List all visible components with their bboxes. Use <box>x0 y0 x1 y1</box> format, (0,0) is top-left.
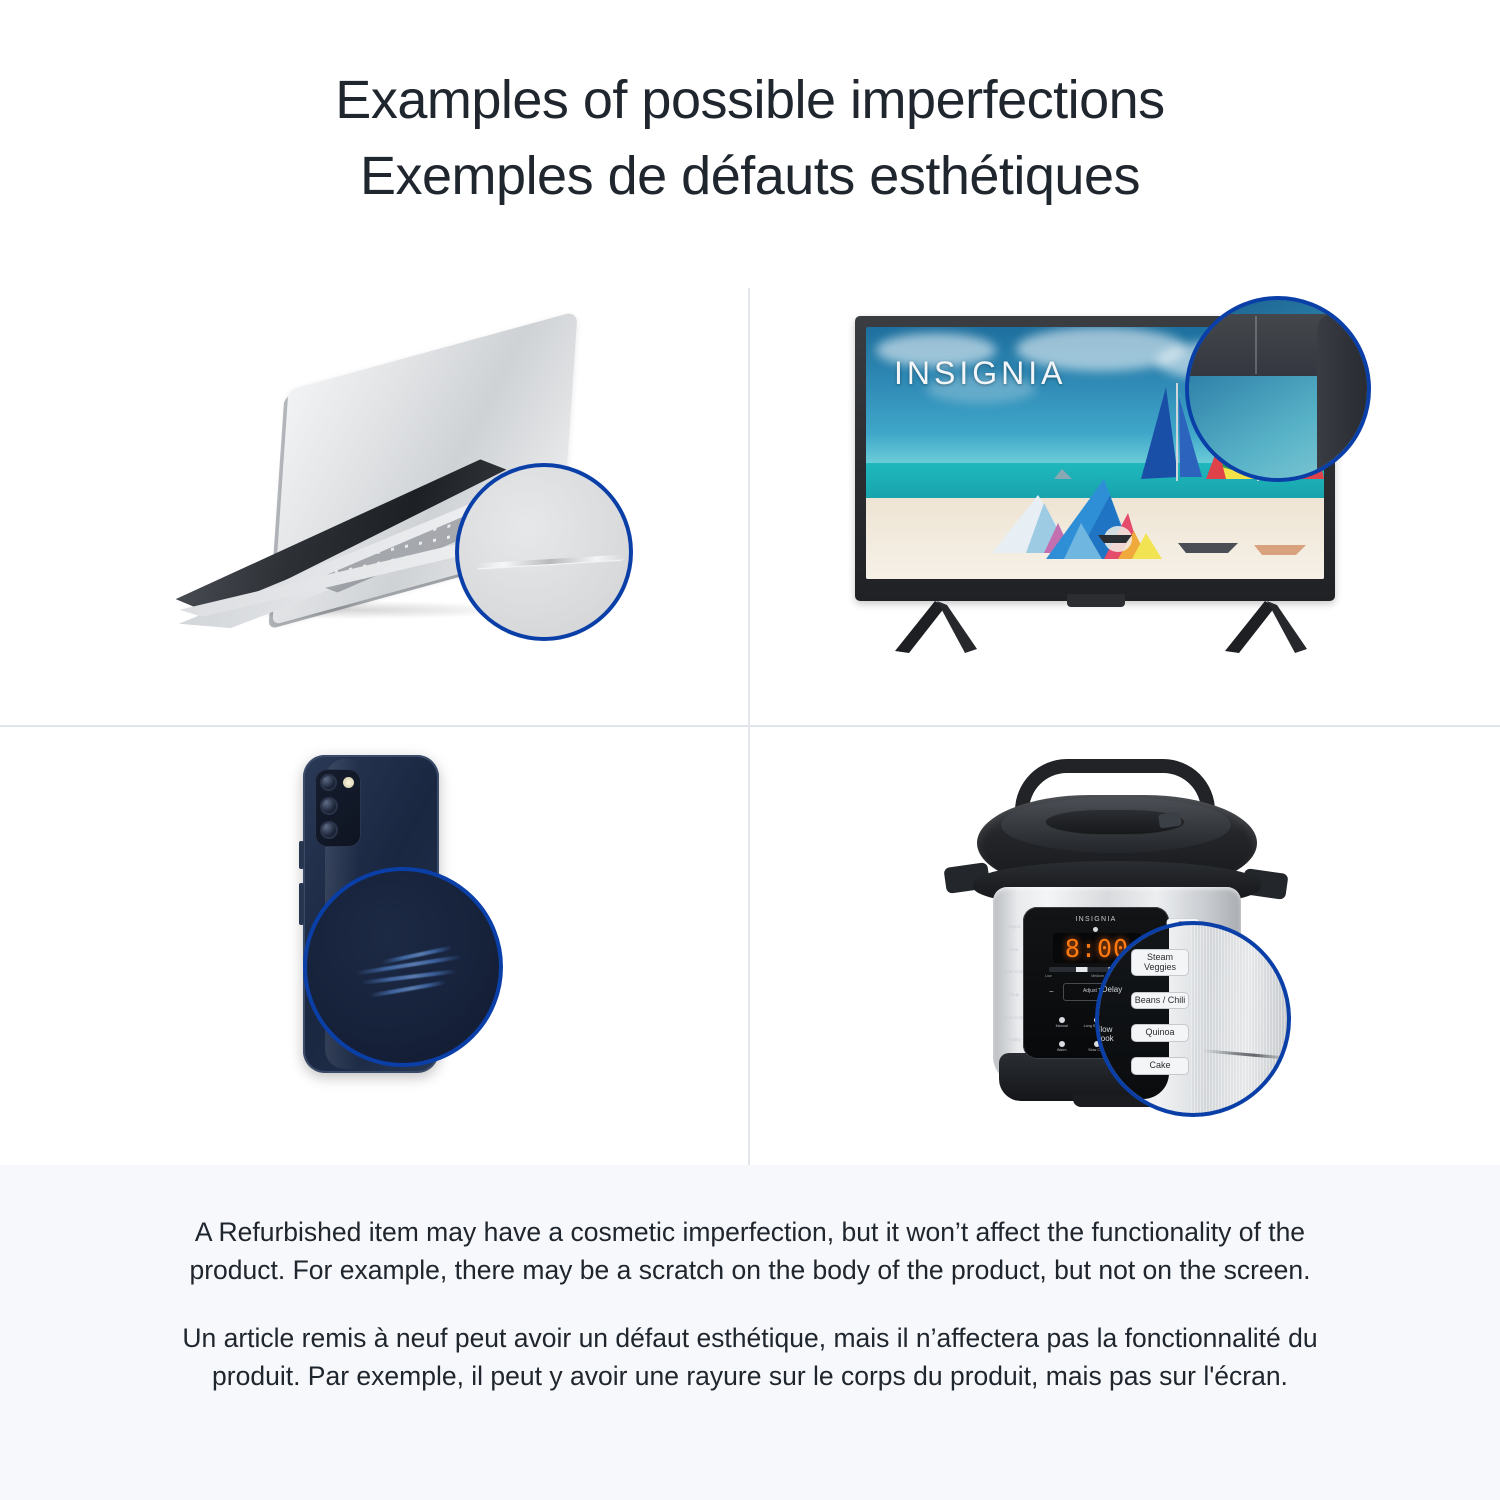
cooker-left-button[interactable]: Soup <box>1003 991 1025 1000</box>
button-led-icon <box>1059 1017 1065 1023</box>
cooker-zoom-side-label: Slow Cook <box>1095 1025 1129 1043</box>
camera-lens-icon <box>320 821 338 839</box>
cooker-indicator-led <box>1093 927 1098 932</box>
cooker-zoom-steam-veggies-button[interactable]: Steam Veggies <box>1132 950 1188 975</box>
cooker-zoom-beans-chili-button[interactable]: Beans / Chili <box>1132 993 1188 1008</box>
product-cell-pressure-cooker: Yogurt Rice Slow Cook Soup Slow Cook Pou… <box>750 727 1500 1165</box>
cooker-brushed-steel-texture <box>1191 921 1291 1117</box>
footer-paragraph-en: A Refurbished item may have a cosmetic i… <box>180 1213 1320 1289</box>
laptop-scratch-mark <box>477 555 623 569</box>
tv-bezel-zoom-right <box>1317 314 1371 482</box>
cooker-brand-logo: INSIGNIA <box>1023 916 1169 923</box>
page-header: Examples of possible imperfections Exemp… <box>0 0 1500 258</box>
cooker-left-button[interactable]: Slow Cook <box>1003 968 1025 977</box>
camera-lens-icon <box>320 797 338 815</box>
tv-bezel-zoom-screen <box>1185 374 1319 482</box>
cooker-left-button[interactable]: Poultry <box>1003 1036 1025 1045</box>
phone-scratch-mark <box>369 980 447 997</box>
page-title-fr: Exemples de défauts esthétiques <box>360 138 1140 214</box>
cooker-zoom-cake-button[interactable]: Cake <box>1132 1058 1188 1073</box>
product-cell-laptop <box>0 258 748 725</box>
tv-illustration: INSIGNIA <box>855 296 1355 671</box>
cooker-keypad-button[interactable]: Manual <box>1045 1007 1078 1029</box>
product-examples-grid: INSIGNIA <box>0 258 1500 1165</box>
tv-center-foot <box>1067 594 1125 607</box>
button-led-icon <box>1059 1041 1065 1047</box>
cooker-zoom-quinoa-button[interactable]: Quinoa <box>1132 1025 1188 1040</box>
product-cell-tv: INSIGNIA <box>750 258 1500 725</box>
page-footer: A Refurbished item may have a cosmetic i… <box>0 1165 1500 1500</box>
tv-bezel-scratch-mark <box>1255 316 1257 374</box>
magnifier-cooker-scratch: Delay Slow Cook Steam Veggies Beans / Ch… <box>1095 921 1291 1117</box>
cooker-zoom-buttons: Steam Veggies Beans / Chili Quinoa Cake <box>1129 933 1191 1091</box>
cooker-zoom-side-labels: Delay Slow Cook <box>1095 953 1129 1075</box>
phone-power-button <box>299 883 304 925</box>
magnifier-phone-scratch <box>303 867 503 1067</box>
footer-paragraph-fr: Un article remis à neuf peut avoir un dé… <box>180 1319 1320 1395</box>
phone-camera-module <box>315 769 361 847</box>
laptop-illustration <box>150 353 620 653</box>
cooker-zoom-side-label: Delay <box>1102 985 1122 994</box>
pressure-cooker-illustration: Yogurt Rice Slow Cook Soup Slow Cook Pou… <box>945 753 1295 1123</box>
product-cell-phone <box>0 727 748 1165</box>
pressure-label-low: Low <box>1045 974 1052 978</box>
magnifier-laptop-scratch <box>455 463 633 641</box>
keypad-label: Manual <box>1056 1025 1068 1029</box>
cooker-left-button[interactable]: Yogurt <box>1003 923 1025 932</box>
camera-lens-icon <box>320 774 337 791</box>
camera-flash-icon <box>343 777 354 788</box>
cooker-keypad-button[interactable]: Warm <box>1045 1032 1078 1054</box>
phone-volume-button <box>299 841 304 869</box>
cooker-left-button[interactable]: Rice <box>1003 946 1025 955</box>
keypad-label: Warm <box>1057 1049 1067 1053</box>
cooker-minus-button[interactable]: − <box>1049 987 1054 996</box>
cooker-left-button-column: Yogurt Rice Slow Cook Soup Slow Cook Pou… <box>1003 909 1025 1059</box>
cooker-left-button[interactable]: Slow Cook <box>1003 1014 1025 1023</box>
phone-illustration <box>285 755 465 1105</box>
magnifier-tv-scratch <box>1185 296 1371 482</box>
page-title-en: Examples of possible imperfections <box>335 62 1164 138</box>
